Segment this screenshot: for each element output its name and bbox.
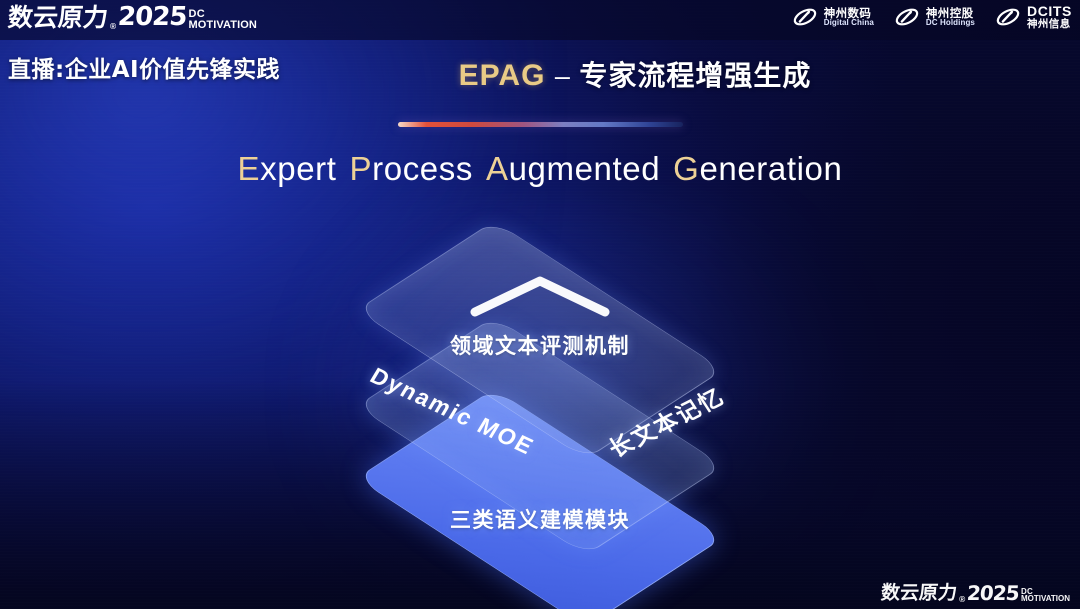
headline-dash: – (555, 61, 570, 91)
brand-dc-line2: MOTIVATION (189, 20, 257, 30)
partner-logo-dc-holdings: 神州控股 DC Holdings (894, 5, 975, 29)
partner-text-digital-china: 神州数码 Digital China (824, 7, 874, 27)
slide-subtitle: ExpertProcessAugmentedGeneration (0, 150, 1080, 188)
brand-logo-chinese: 数云原力 (7, 5, 109, 30)
subtitle-word-process: Process (350, 150, 473, 187)
brand-logo-dc-motivation: DC MOTIVATION (189, 9, 257, 30)
partner-name-cn: 神州数码 (824, 7, 874, 19)
brand-registered-mark: ® (110, 22, 116, 30)
partner-logo-dcits: DCITS 神州信息 (995, 4, 1072, 30)
brand-dc-line1: DC (189, 9, 206, 19)
slide-canvas: 数云原力 ® 2025 DC MOTIVATION 直播:企业AI价值先锋实践 … (0, 0, 1080, 609)
subtitle-capital: E (238, 150, 261, 187)
partner-name-cn: 神州信息 (1027, 19, 1072, 30)
headline-acronym: EPAG (459, 59, 546, 92)
subtitle-capital: A (486, 150, 509, 187)
brand-logo-chinese: 数云原力 (880, 584, 958, 603)
slide-headline: EPAG – 专家流程增强生成 (0, 54, 1080, 94)
partner-text-dcits: DCITS 神州信息 (1027, 4, 1072, 30)
subtitle-word-generation: Generation (673, 150, 842, 187)
subtitle-rest: rocess (372, 150, 473, 187)
partner-name-en: DC Holdings (926, 19, 975, 27)
brand-dc-line2: MOTIVATION (1021, 595, 1070, 603)
subtitle-capital: G (673, 150, 699, 187)
headline-chinese: 专家流程增强生成 (579, 59, 811, 92)
swirl-logo-icon (894, 5, 920, 29)
swirl-logo-icon (995, 5, 1021, 29)
chevron-up-icon (465, 272, 615, 318)
brand-registered-mark: ® (959, 595, 965, 603)
subtitle-capital: P (350, 150, 373, 187)
partner-name-en: DCITS (1027, 4, 1072, 19)
layered-stack-diagram: 领域文本评测机制 Dynamic MOE 长文本记忆 三类语义建模模块 (290, 222, 790, 567)
partner-logo-group: 神州数码 Digital China 神州控股 DC Holdings (792, 4, 1072, 30)
partner-logo-digital-china: 神州数码 Digital China (792, 5, 874, 29)
subtitle-word-expert: Expert (238, 150, 337, 187)
brand-logo-watermark: 数云原力 ® 2025 DC MOTIVATION (881, 583, 1070, 603)
brand-logo-dc-motivation: DC MOTIVATION (1021, 588, 1070, 603)
partner-name-cn: 神州控股 (926, 7, 975, 19)
subtitle-rest: xpert (260, 150, 336, 187)
partner-text-dc-holdings: 神州控股 DC Holdings (926, 7, 975, 27)
brand-logo-year: 2025 (117, 4, 188, 30)
gradient-divider (398, 122, 683, 127)
brand-logo-year: 2025 (966, 583, 1019, 603)
subtitle-word-augmented: Augmented (486, 150, 660, 187)
partner-name-en: Digital China (824, 19, 874, 27)
brand-logo-top: 数云原力 ® 2025 DC MOTIVATION (8, 4, 257, 30)
subtitle-rest: ugmented (509, 150, 661, 187)
subtitle-rest: eneration (699, 150, 842, 187)
swirl-logo-icon (792, 5, 818, 29)
